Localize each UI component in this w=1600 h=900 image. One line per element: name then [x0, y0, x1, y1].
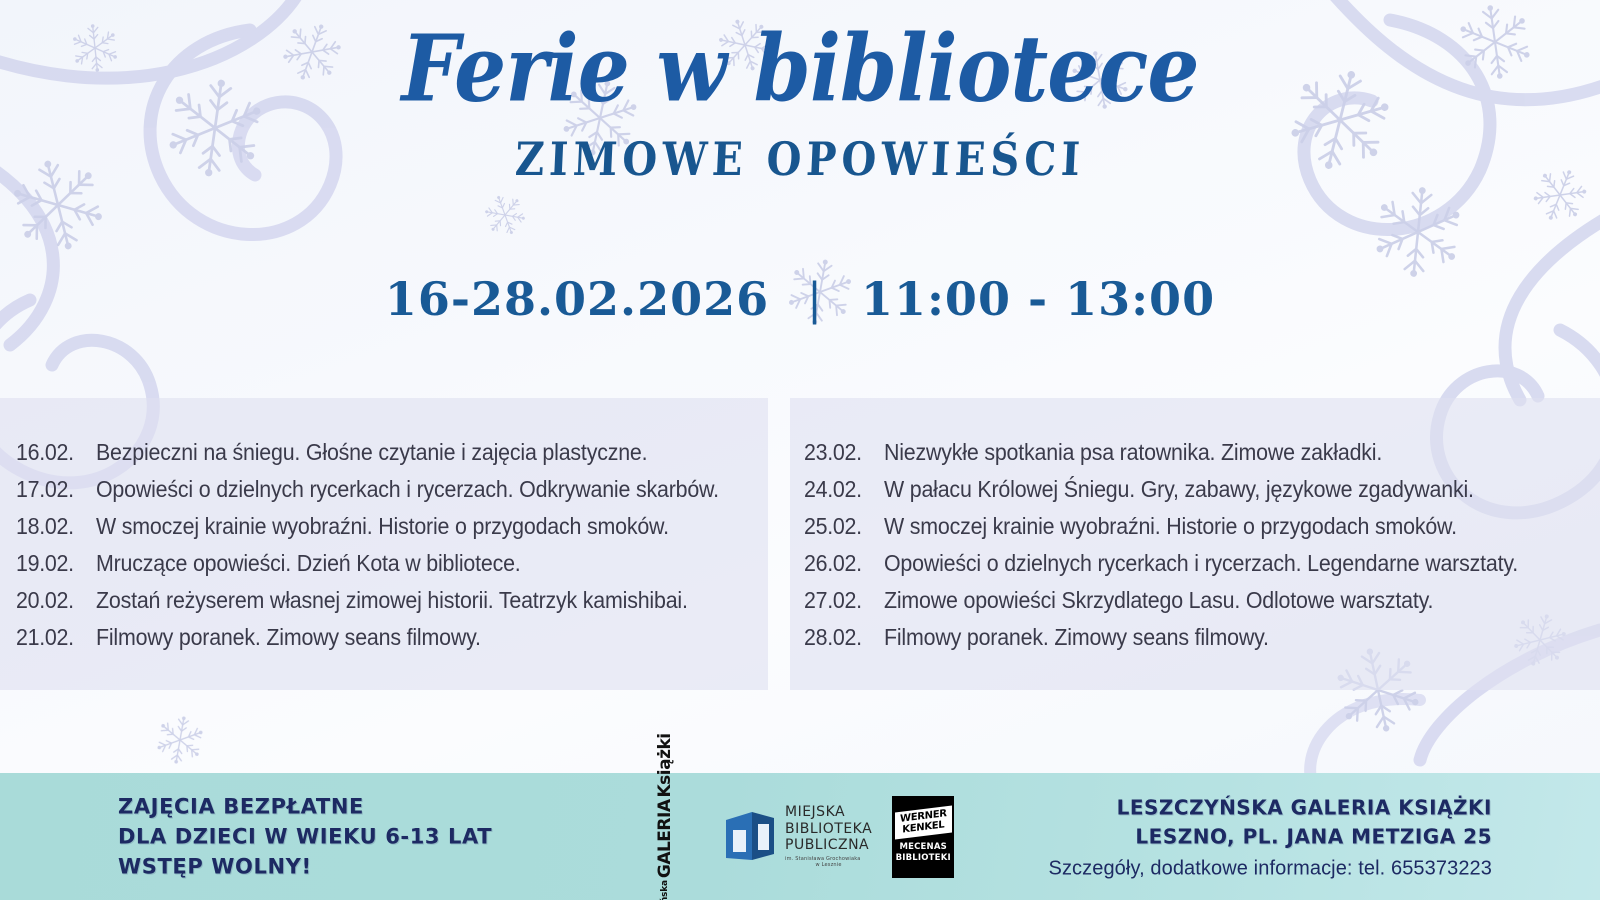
schedule-description: Bezpieczni na śniegu. Głośne czytanie i … — [96, 441, 647, 464]
schedule-date: 27.02. — [804, 589, 873, 612]
werner-kenkel-badge: WERNER KENKEL — [895, 806, 952, 840]
miejska-biblioteka-publiczna-logo: MIEJSKA BIBLIOTEKA PUBLICZNA im. Stanisł… — [722, 802, 872, 872]
werner-kenkel-logo: WERNER KENKEL MECENAS BIBLIOTEKI — [892, 796, 954, 878]
schedule-row: 28.02. Filmowy poranek. Zimowy seans fil… — [804, 619, 1531, 656]
schedule-row: 25.02. W smoczej krainie wyobraźni. Hist… — [804, 508, 1531, 545]
schedule-date: 25.02. — [804, 515, 873, 538]
event-datetime: 16-28.02.2026 | 11:00 - 13:00 — [0, 272, 1600, 326]
schedule-row: 17.02. Opowieści o dzielnych rycerkach i… — [16, 471, 702, 508]
schedule-description: Mruczące opowieści. Dzień Kota w bibliot… — [96, 552, 521, 575]
schedule-date: 21.02. — [16, 626, 85, 649]
schedule-row: 24.02. W pałacu Królowej Śniegu. Gry, za… — [804, 471, 1531, 508]
sponsor-logos: Leszczyńska GALERIA Książki MIEJ — [628, 795, 954, 879]
schedule-date: 19.02. — [16, 552, 85, 575]
event-hours: 11:00 - 13:00 — [861, 272, 1215, 326]
event-dates: 16-28.02.2026 — [385, 272, 769, 326]
schedule-row: 16.02. Bezpieczni na śniegu. Głośne czyt… — [16, 434, 702, 471]
schedule-description: Filmowy poranek. Zimowy seans filmowy. — [96, 626, 481, 649]
schedule-row: 23.02. Niezwykłe spotkania psa ratownika… — [804, 434, 1531, 471]
mbp-line-1: MIEJSKA — [785, 804, 872, 821]
datetime-separator: | — [807, 274, 823, 325]
poster-footer: ZAJĘCIA BEZPŁATNE DLA DZIECI W WIEKU 6-1… — [0, 773, 1600, 900]
mbp-line-2: BIBLIOTEKA — [785, 821, 872, 838]
mbp-line-3: PUBLICZNA — [785, 837, 872, 854]
admission-line-3: WSTĘP WOLNY! — [118, 852, 492, 882]
schedule-row: 27.02. Zimowe opowieści Skrzydlatego Las… — [804, 582, 1531, 619]
schedule-description: Filmowy poranek. Zimowy seans filmowy. — [884, 626, 1269, 649]
schedule-description: W pałacu Królowej Śniegu. Gry, zabawy, j… — [884, 478, 1474, 501]
admission-info: ZAJĘCIA BEZPŁATNE DLA DZIECI W WIEKU 6-1… — [118, 791, 492, 882]
schedule-column-left: 16.02. Bezpieczni na śniegu. Głośne czyt… — [0, 398, 768, 690]
schedule-row: 19.02. Mruczące opowieści. Dzień Kota w … — [16, 545, 702, 582]
schedule-description: Niezwykłe spotkania psa ratownika. Zimow… — [884, 441, 1382, 464]
mbp-city-line: w Lesznie — [785, 863, 872, 869]
page-subtitle: ZIMOWE OPOWIEŚCI — [0, 132, 1600, 186]
schedule-date: 16.02. — [16, 441, 85, 464]
schedule-date: 20.02. — [16, 589, 85, 612]
schedule-description: Opowieści o dzielnych rycerkach i rycerz… — [96, 478, 719, 501]
schedule-row: 18.02. W smoczej krainie wyobraźni. Hist… — [16, 508, 702, 545]
organizer-address: LESZNO, PL. JANA METZIGA 25 — [1049, 822, 1493, 851]
lgk-logo-small-text: Leszczyńska — [660, 880, 670, 900]
organizer-contact: LESZCZYŃSKA GALERIA KSIĄŻKI LESZNO, PL. … — [1049, 793, 1493, 880]
mecenas-biblioteki-caption: MECENAS BIBLIOTEKI — [896, 842, 951, 863]
lgk-logo-ksiazki-text: Książki — [655, 733, 675, 797]
schedule-date: 28.02. — [804, 626, 873, 649]
schedule-row: 21.02. Filmowy poranek. Zimowy seans fil… — [16, 619, 702, 656]
schedule-description: Opowieści o dzielnych rycerkach i rycerz… — [884, 552, 1518, 575]
schedule-column-right: 23.02. Niezwykłe spotkania psa ratownika… — [790, 398, 1600, 690]
organizer-name: LESZCZYŃSKA GALERIA KSIĄŻKI — [1049, 793, 1493, 822]
open-book-icon — [722, 808, 778, 866]
admission-line-1: ZAJĘCIA BEZPŁATNE — [118, 791, 492, 821]
mecenas-line-1: MECENAS — [896, 842, 951, 853]
lgk-logo-galeria-text: GALERIA — [655, 799, 675, 878]
schedule-row: 20.02. Zostań reżyserem własnej zimowej … — [16, 582, 702, 619]
poster-root: Ferie w bibliotece ZIMOWE OPOWIEŚCI 16-2… — [0, 0, 1600, 900]
schedule: 16.02. Bezpieczni na śniegu. Głośne czyt… — [0, 398, 1600, 690]
schedule-date: 17.02. — [16, 478, 85, 501]
schedule-row: 26.02. Opowieści o dzielnych rycerkach i… — [804, 545, 1531, 582]
schedule-description: W smoczej krainie wyobraźni. Historie o … — [96, 515, 669, 538]
schedule-description: W smoczej krainie wyobraźni. Historie o … — [884, 515, 1457, 538]
schedule-description: Zimowe opowieści Skrzydlatego Lasu. Odlo… — [884, 589, 1433, 612]
contact-phone: Szczegóły, dodatkowe informacje: tel. 65… — [1049, 857, 1493, 880]
mecenas-line-2: BIBLIOTEKI — [896, 853, 951, 864]
schedule-description: Zostań reżyserem własnej zimowej histori… — [96, 589, 688, 612]
schedule-date: 24.02. — [804, 478, 873, 501]
admission-line-2: DLA DZIECI W WIEKU 6-13 LAT — [118, 821, 492, 851]
page-title: Ferie w bibliotece — [0, 23, 1600, 115]
schedule-date: 23.02. — [804, 441, 873, 464]
schedule-date: 26.02. — [804, 552, 873, 575]
leszczynska-galeria-ksiazki-logo: Leszczyńska GALERIA Książki — [628, 795, 702, 879]
schedule-date: 18.02. — [16, 515, 85, 538]
poster-header: Ferie w bibliotece ZIMOWE OPOWIEŚCI — [0, 0, 1600, 183]
